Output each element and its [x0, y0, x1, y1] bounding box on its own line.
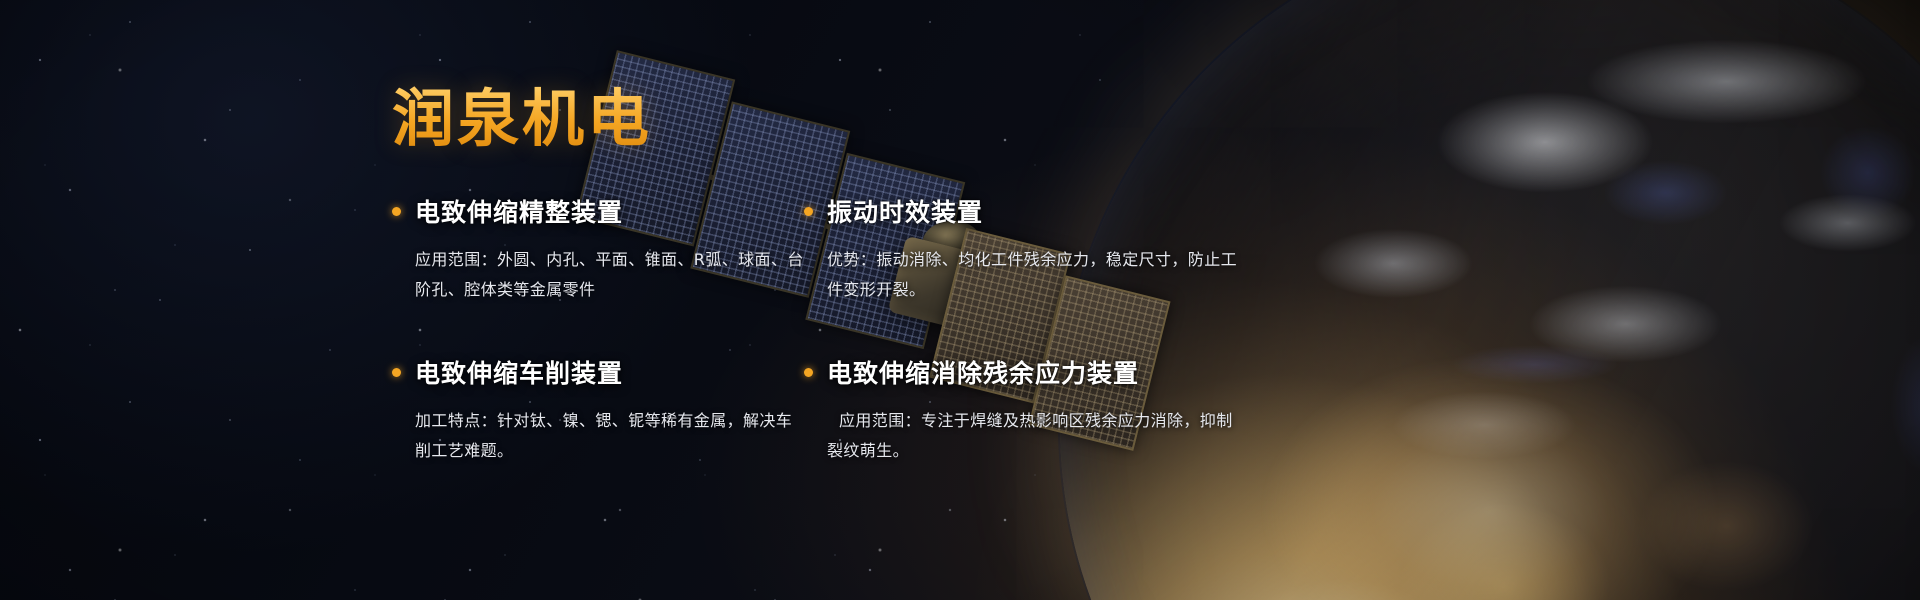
feature-item-1: 电致伸缩精整装置 应用范围：外圆、内孔、平面、锥面、R弧、球面、台阶孔、腔体类等… [392, 193, 804, 304]
feature-title-2: 振动时效装置 [827, 193, 983, 229]
feature-heading-3: 电致伸缩车削装置 [392, 354, 804, 390]
feature-description-3: 加工特点：针对钛、镍、锶、铌等稀有金属，解决车削工艺难题。 [392, 406, 804, 465]
feature-description-1: 应用范围：外圆、内孔、平面、锥面、R弧、球面、台阶孔、腔体类等金属零件 [392, 245, 804, 304]
feature-title-1: 电致伸缩精整装置 [415, 193, 623, 229]
banner-content: 润泉机电 电致伸缩精整装置 应用范围：外圆、内孔、平面、锥面、R弧、球面、台阶孔… [392, 86, 1242, 465]
bullet-dot-icon [392, 207, 401, 216]
feature-description-2: 优势：振动消除、均化工件残余应力，稳定尺寸，防止工件变形开裂。 [804, 245, 1242, 304]
bullet-dot-icon [804, 207, 813, 216]
bullet-dot-icon [804, 368, 813, 377]
feature-item-3: 电致伸缩车削装置 加工特点：针对钛、镍、锶、铌等稀有金属，解决车削工艺难题。 [392, 354, 804, 465]
feature-title-3: 电致伸缩车削装置 [415, 354, 623, 390]
brand-title: 润泉机电 [392, 86, 1242, 151]
feature-description-4: 应用范围：专注于焊缝及热影响区残余应力消除，抑制裂纹萌生。 [804, 406, 1242, 465]
hero-banner: 润泉机电 电致伸缩精整装置 应用范围：外圆、内孔、平面、锥面、R弧、球面、台阶孔… [0, 0, 1920, 600]
feature-item-4: 电致伸缩消除残余应力装置 应用范围：专注于焊缝及热影响区残余应力消除，抑制裂纹萌… [804, 354, 1242, 465]
bullet-dot-icon [392, 368, 401, 377]
feature-heading-1: 电致伸缩精整装置 [392, 193, 804, 229]
feature-heading-2: 振动时效装置 [804, 193, 1242, 229]
feature-heading-4: 电致伸缩消除残余应力装置 [804, 354, 1242, 390]
feature-grid: 电致伸缩精整装置 应用范围：外圆、内孔、平面、锥面、R弧、球面、台阶孔、腔体类等… [392, 193, 1242, 465]
feature-title-4: 电致伸缩消除残余应力装置 [827, 354, 1139, 390]
feature-item-2: 振动时效装置 优势：振动消除、均化工件残余应力，稳定尺寸，防止工件变形开裂。 [804, 193, 1242, 304]
